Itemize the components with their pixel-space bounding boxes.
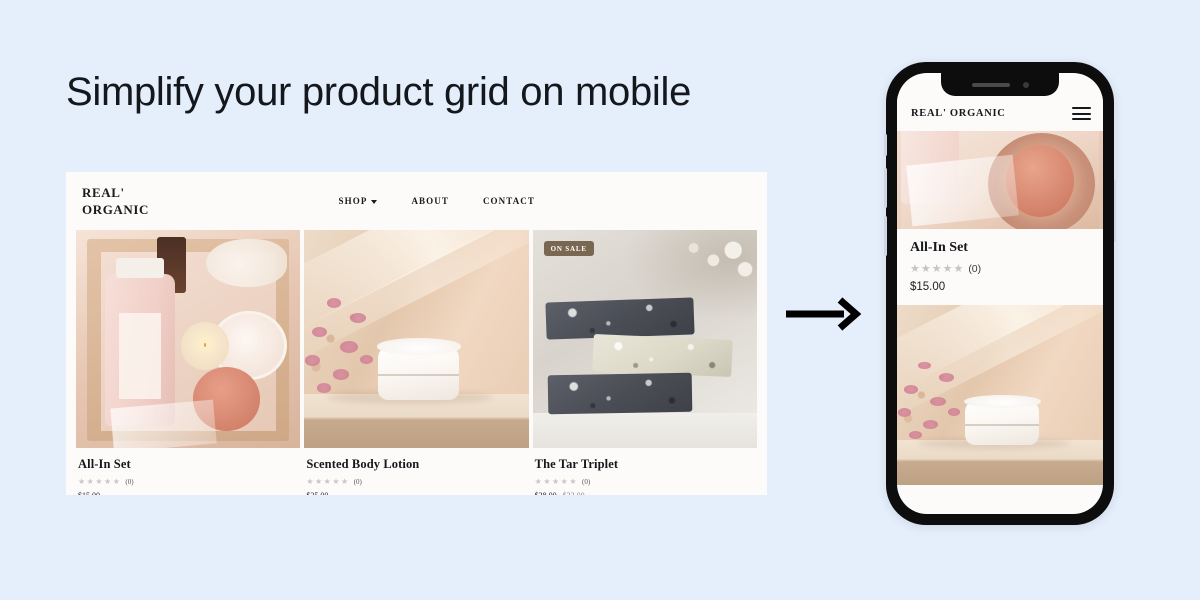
page-title: Simplify your product grid on mobile [66,68,691,116]
mobile-phone-mockup: REAL' ORGANIC All-In Set ★★★★★ (0) $15.0… [886,62,1114,525]
rating-count: (0) [125,478,133,486]
star-rating-icon: ★★★★★ [78,477,121,486]
arrow-right-icon [786,296,862,332]
mobile-site-header: REAL' ORGANIC [897,96,1103,131]
product-rating[interactable]: ★★★★★ (0) [535,477,755,486]
product-card[interactable]: ON SALE The Tar Triplet ★★★★★ (0) $28 [533,230,757,495]
phone-screen: REAL' ORGANIC All-In Set ★★★★★ (0) $15.0… [897,73,1103,514]
product-grid: All-In Set ★★★★★ (0) $15.00 [66,230,767,495]
charcoal-soap-bars-illustration [533,230,757,448]
product-rating[interactable]: ★★★★★ (0) [78,477,298,486]
nav-item-contact-label: CONTACT [483,196,535,206]
product-price-row: $28.00 $32.00 [535,491,755,495]
product-price: $28.00 [535,491,557,495]
hamburger-menu-icon[interactable] [1072,107,1091,120]
rating-count: (0) [582,478,590,486]
product-image-the-tar-triplet[interactable]: ON SALE [533,230,757,448]
brand-logo-line-1: REAL' [82,184,149,201]
product-card-body: All-In Set ★★★★★ (0) $15.00 [76,448,300,495]
star-rating-icon: ★★★★★ [535,477,578,486]
product-card[interactable]: Scented Body Lotion ★★★★★ (0) $25.00 [304,230,528,495]
phone-volume-up-button[interactable] [884,168,887,208]
product-price: $15.00 [78,491,100,495]
product-image-scented-body-lotion[interactable] [304,230,528,448]
product-price-row: $25.00 [306,491,526,495]
product-title: The Tar Triplet [535,457,755,472]
product-price-row: $15.00 [78,491,298,495]
gift-box-set-illustration [76,230,300,448]
nav-item-shop[interactable]: SHOP [339,196,378,206]
rating-count: (0) [354,478,362,486]
chevron-down-icon [371,200,377,204]
product-compare-price: $32.00 [563,491,585,495]
nav-item-about-label: ABOUT [411,196,449,206]
desktop-main-nav: SHOP ABOUT CONTACT [339,196,743,206]
front-camera-icon [1023,82,1029,88]
product-card-body: The Tar Triplet ★★★★★ (0) $28.00 $32.00 [533,448,757,495]
nav-item-shop-label: SHOP [339,196,368,206]
product-image-all-in-set[interactable] [76,230,300,448]
brand-logo[interactable]: REAL' ORGANIC [82,184,149,218]
brand-logo-mobile[interactable]: REAL' ORGANIC [911,108,1006,119]
nav-item-contact[interactable]: CONTACT [483,196,535,206]
phone-power-button[interactable] [1114,180,1117,242]
mobile-product-image-scented-body-lotion[interactable] [897,305,1103,485]
mobile-product-price: $15.00 [910,281,1090,293]
mobile-product-title: All-In Set [910,240,1090,256]
phone-notch [941,73,1059,96]
jar-with-dried-flowers-illustration [304,230,528,448]
jar-with-dried-flowers-illustration [897,305,1103,485]
mobile-product-rating[interactable]: ★★★★★ (0) [910,262,1090,275]
product-title: Scented Body Lotion [306,457,526,472]
product-card-body: Scented Body Lotion ★★★★★ (0) $25.00 [304,448,528,495]
desktop-site-preview: REAL' ORGANIC SHOP ABOUT CONTACT [66,172,767,495]
product-price: $25.00 [306,491,328,495]
product-rating[interactable]: ★★★★★ (0) [306,477,526,486]
phone-silent-switch[interactable] [884,134,887,156]
rating-count: (0) [968,263,981,275]
status-badge-on-sale: ON SALE [544,241,594,256]
brand-logo-line-2: ORGANIC [82,201,149,218]
desktop-site-header: REAL' ORGANIC SHOP ABOUT CONTACT [66,172,767,230]
mobile-product-card-body: All-In Set ★★★★★ (0) $15.00 [897,229,1103,305]
product-title: All-In Set [78,457,298,472]
mobile-product-image-all-in-set[interactable] [897,131,1103,229]
speaker-icon [972,83,1010,87]
star-rating-icon: ★★★★★ [910,262,964,275]
phone-volume-down-button[interactable] [884,216,887,256]
nav-item-about[interactable]: ABOUT [411,196,449,206]
star-rating-icon: ★★★★★ [306,477,349,486]
gift-box-set-closeup-illustration [897,131,1103,229]
product-card[interactable]: All-In Set ★★★★★ (0) $15.00 [76,230,300,495]
